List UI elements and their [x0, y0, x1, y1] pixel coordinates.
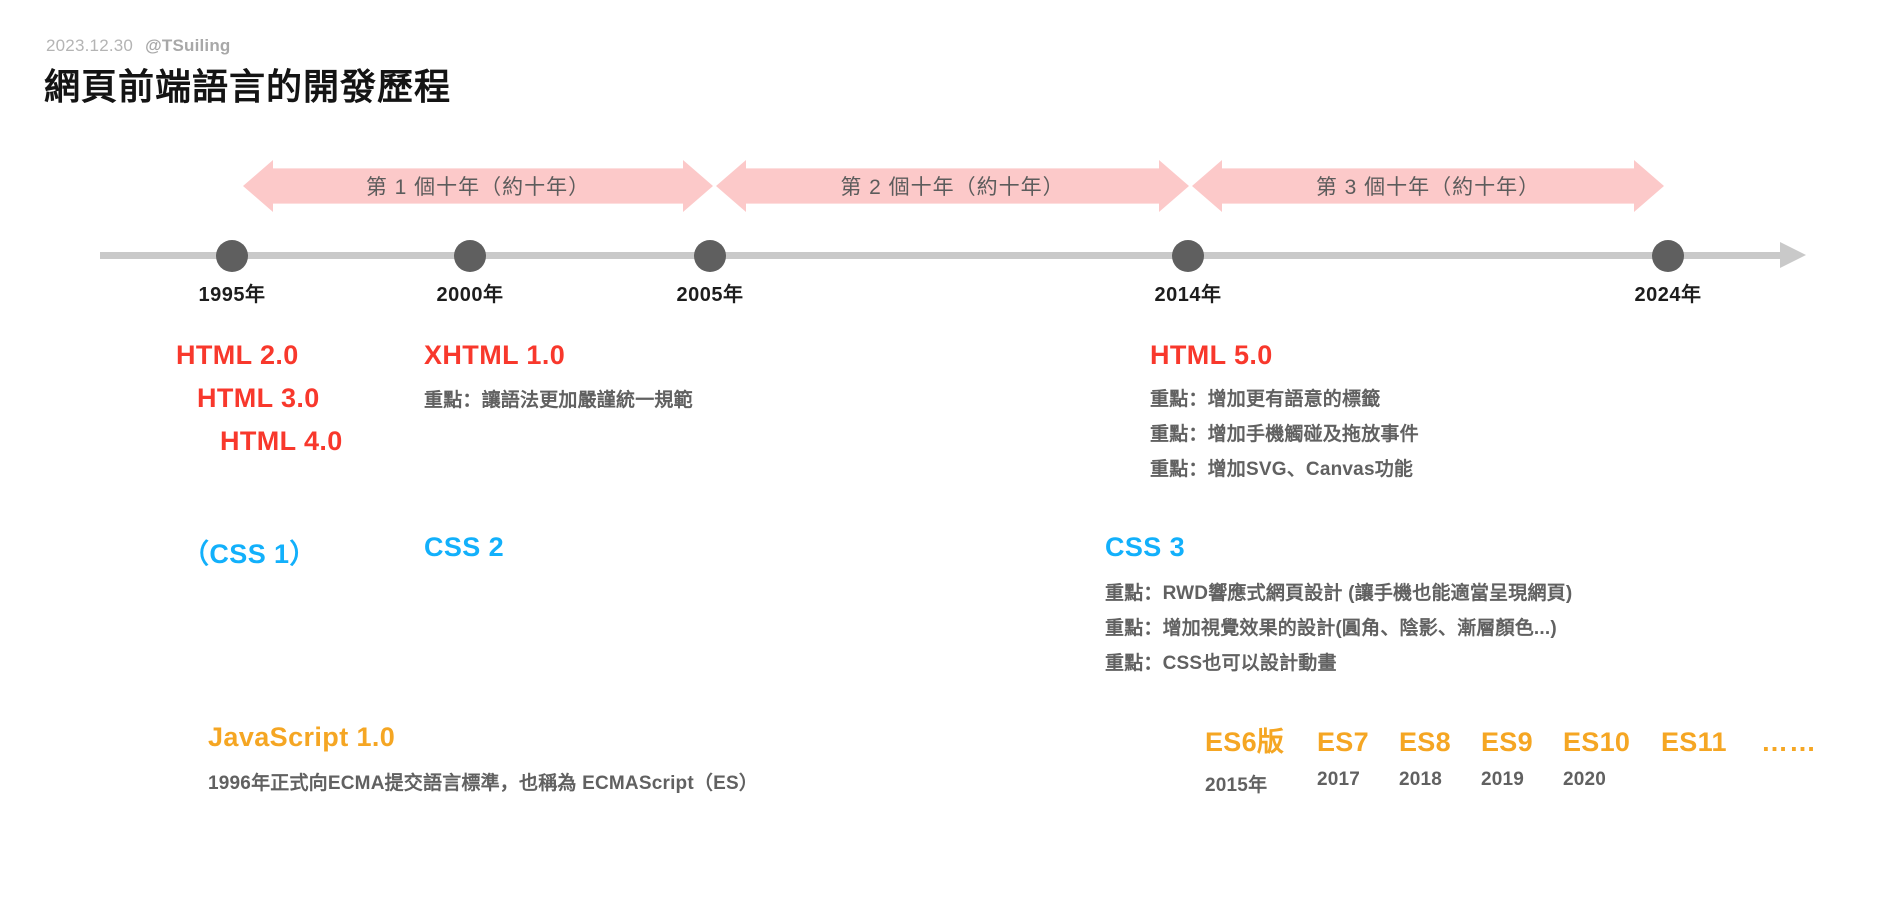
xhtml-1-note: 重點：讓語法更加嚴謹統一規範	[424, 385, 693, 412]
css-3-note-1: 重點：RWD響應式網頁設計 (讓手機也能適當呈現網頁)	[1105, 578, 1572, 605]
timeline-dot-2014	[1172, 240, 1204, 272]
css-2-label: CSS 2	[424, 532, 504, 563]
es-name: ES10	[1563, 727, 1630, 758]
timeline-year-1995: 1995年	[199, 278, 266, 307]
css-3-label: CSS 3	[1105, 532, 1185, 563]
author-handle: @TSuiling	[145, 36, 230, 55]
html-2-label: HTML 2.0	[176, 340, 299, 371]
es-version-es10: ES10 2020	[1563, 727, 1661, 791]
es-year: 2019	[1481, 769, 1524, 791]
es-ellipsis: ……	[1761, 727, 1817, 758]
es-year: 2020	[1563, 769, 1606, 791]
es-year: 2015年	[1205, 770, 1267, 797]
html-5-note-2: 重點：增加手機觸碰及拖放事件	[1150, 419, 1419, 446]
timeline-year-2005: 2005年	[677, 278, 744, 307]
es-version-es7: ES7 2017	[1317, 727, 1399, 791]
es-version-es8: ES8 2018	[1399, 727, 1481, 791]
html-5-label: HTML 5.0	[1150, 340, 1273, 371]
es-name: ES7	[1317, 727, 1369, 758]
timeline-arrow-icon	[1780, 242, 1806, 268]
css-3-notes: 重點：RWD響應式網頁設計 (讓手機也能適當呈現網頁) 重點：增加視覺效果的設計…	[1105, 578, 1572, 683]
html-4-label: HTML 4.0	[220, 426, 343, 457]
javascript-note: 1996年正式向ECMA提交語言標準，也稱為 ECMAScript（ES）	[208, 768, 758, 795]
es-name: ES11	[1661, 727, 1727, 758]
publish-date: 2023.12.30	[46, 36, 133, 55]
decade-label-3: 第 3 個十年（約十年）	[1192, 160, 1664, 212]
html-5-note-3: 重點：增加SVG、Canvas功能	[1150, 454, 1419, 481]
decade-arrow-3: 第 3 個十年（約十年）	[1192, 160, 1664, 212]
diagram-canvas: 2023.12.30@TSuiling 網頁前端語言的開發歷程 第 1 個十年（…	[0, 0, 1900, 900]
es-version-es11: ES11	[1661, 727, 1761, 758]
timeline-dot-1995	[216, 240, 248, 272]
timeline-year-2014: 2014年	[1155, 278, 1222, 307]
html-5-notes: 重點：增加更有語意的標籤 重點：增加手機觸碰及拖放事件 重點：增加SVG、Can…	[1150, 384, 1419, 489]
es-name: ES8	[1399, 727, 1451, 758]
es-version-es9: ES9 2019	[1481, 727, 1563, 791]
css-3-note-2: 重點：增加視覺效果的設計(圓角、陰影、漸層顏色...)	[1105, 613, 1572, 640]
timeline-dot-2024	[1652, 240, 1684, 272]
es-year: 2017	[1317, 769, 1360, 791]
decade-arrow-2: 第 2 個十年（約十年）	[716, 160, 1189, 212]
decade-label-2: 第 2 個十年（約十年）	[716, 160, 1189, 212]
timeline-dot-2005	[694, 240, 726, 272]
es-year: 2018	[1399, 769, 1442, 791]
html-5-note-1: 重點：增加更有語意的標籤	[1150, 384, 1419, 411]
timeline-year-2000: 2000年	[437, 278, 504, 307]
css-1-label: （CSS 1）	[182, 532, 317, 571]
meta-line: 2023.12.30@TSuiling	[46, 36, 231, 56]
es-name: ES9	[1481, 727, 1533, 758]
decade-arrow-1: 第 1 個十年（約十年）	[243, 160, 713, 212]
xhtml-1-label: XHTML 1.0	[424, 340, 565, 371]
timeline-axis-line	[100, 252, 1785, 259]
es-name: ES6版	[1205, 720, 1284, 759]
css-3-note-3: 重點：CSS也可以設計動畫	[1105, 648, 1572, 675]
decade-label-1: 第 1 個十年（約十年）	[243, 160, 713, 212]
timeline-year-2024: 2024年	[1635, 278, 1702, 307]
javascript-label: JavaScript 1.0	[208, 722, 395, 753]
timeline-dot-2000	[454, 240, 486, 272]
es-versions-row: ES6版 2015年 ES7 2017 ES8 2018 ES9 2019 ES…	[1205, 720, 1817, 797]
html-3-label: HTML 3.0	[197, 383, 320, 414]
es-version-es6: ES6版 2015年	[1205, 720, 1317, 797]
page-title: 網頁前端語言的開發歷程	[44, 58, 451, 110]
